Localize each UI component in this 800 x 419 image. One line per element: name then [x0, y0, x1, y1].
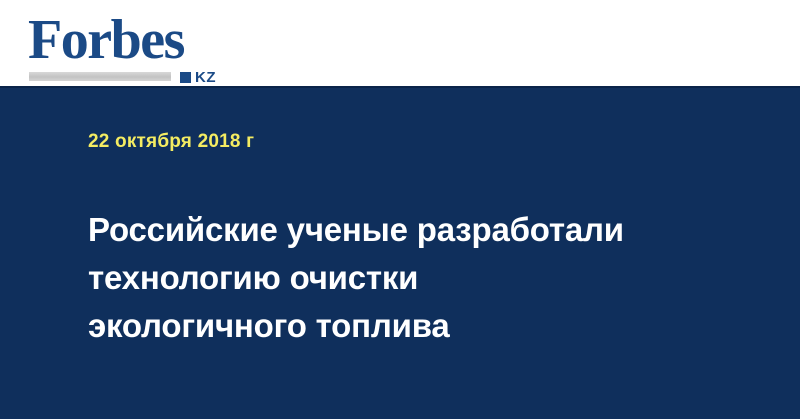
logo-kz-label: KZ — [195, 70, 216, 85]
article-hero-panel: 22 октября 2018 г Российские ученые разр… — [0, 86, 800, 419]
square-icon — [180, 72, 191, 83]
logo-wordmark-text: Forbes — [28, 12, 184, 68]
article-date: 22 октября 2018 г — [88, 131, 254, 153]
logo-underbar — [29, 72, 171, 81]
site-masthead: Forbes KZ — [0, 0, 800, 86]
headline-line-3: экологичного топлива — [88, 302, 728, 350]
forbes-kz-logo[interactable]: Forbes KZ — [28, 12, 224, 80]
article-headline[interactable]: Российские ученые разработали технологию… — [88, 206, 728, 350]
headline-line-2: технологию очистки — [88, 254, 728, 302]
logo-kz-badge: KZ — [180, 70, 216, 85]
headline-line-1: Российские ученые разработали — [88, 206, 728, 254]
article-card: Forbes KZ 22 октября 2018 г Российские у… — [0, 0, 800, 419]
